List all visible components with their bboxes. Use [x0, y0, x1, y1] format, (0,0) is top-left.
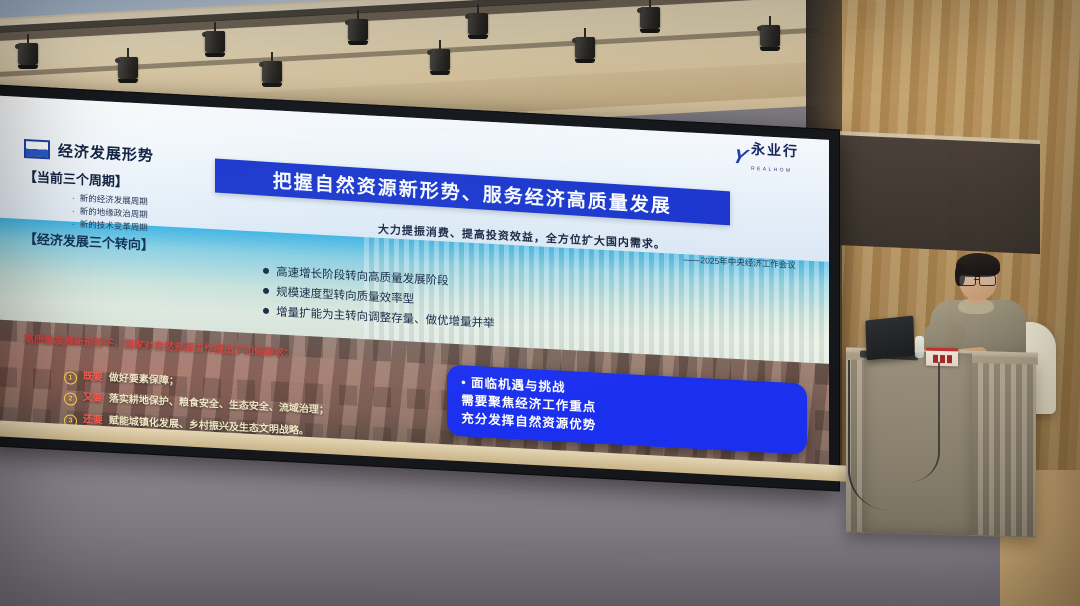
water-bottle	[915, 336, 924, 358]
power-cable-secondary	[900, 362, 940, 482]
bullet-dot-icon	[263, 308, 269, 314]
requirement-lead: 又要	[83, 388, 103, 411]
bullet-dot-icon	[263, 268, 269, 274]
stage-light-icon	[575, 28, 595, 63]
logo-name-en: REALHOM	[751, 166, 793, 174]
logo-swoosh-icon: Y	[729, 145, 747, 168]
bullet-dot-icon	[263, 288, 269, 294]
stage-light-icon	[468, 4, 488, 39]
section-marker-icon	[24, 139, 50, 159]
stage-light-icon	[205, 22, 225, 57]
stage-light-icon	[760, 16, 780, 51]
conference-room-photo: Y 永业行 REALHOM 把握自然资源新形势、服务经济高质量发展 大力提振消费…	[0, 0, 1080, 606]
stage-light-icon	[262, 52, 282, 87]
requirement-lead: 既要	[83, 366, 103, 389]
led-screen[interactable]: Y 永业行 REALHOM 把握自然资源新形势、服务经济高质量发展 大力提振消费…	[0, 96, 829, 480]
requirement-number-icon: 2	[64, 393, 77, 407]
stage-light-icon	[118, 48, 138, 83]
requirement-number-icon: 1	[64, 371, 77, 385]
laptop[interactable]	[865, 316, 914, 361]
glasses-icon	[958, 275, 998, 284]
stage-light-icon	[430, 40, 450, 75]
left-panel-heading: 经济发展形势	[58, 140, 154, 166]
stage-light-icon	[348, 10, 368, 45]
company-logo: Y 永业行 REALHOM	[733, 141, 799, 177]
presentation-slide: Y 永业行 REALHOM 把握自然资源新形势、服务经济高质量发展 大力提振消费…	[0, 96, 829, 480]
logo-name-cn: 永业行	[751, 141, 799, 160]
stage-light-icon	[18, 34, 38, 69]
stage-light-icon	[640, 0, 660, 33]
slide-left-panel: 经济发展形势 【当前三个周期】 新的经济发展周期新的地缘政治周期新的技术变革周期	[24, 138, 256, 241]
